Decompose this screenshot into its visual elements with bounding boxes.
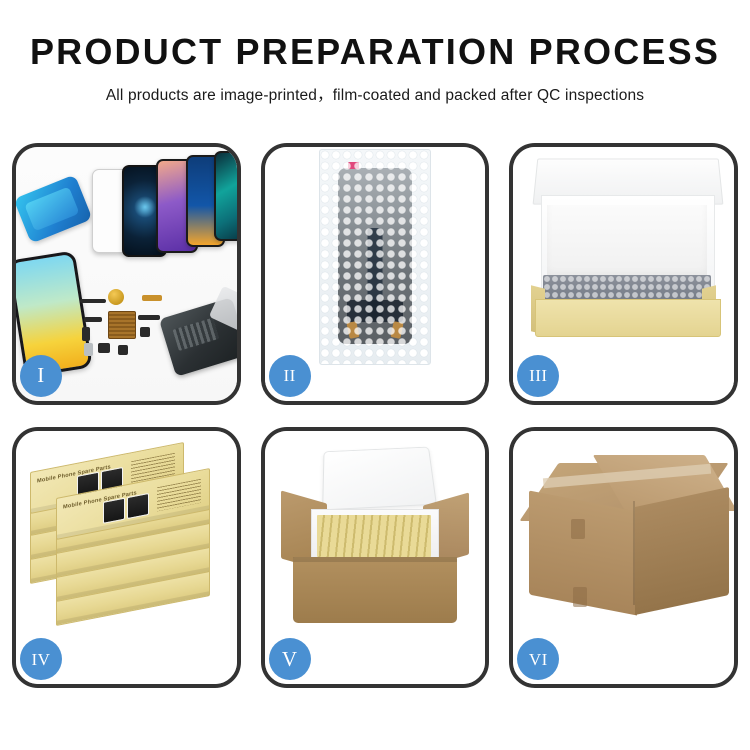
phone-screen-teal-image	[214, 151, 237, 241]
step-panel-6[interactable]: VI	[509, 427, 738, 689]
carton-tab-lower-image	[573, 587, 587, 607]
bubble-wrap-bag-image	[319, 149, 431, 365]
page-title: PRODUCT PREPARATION PROCESS	[0, 34, 750, 70]
retail-box-label-1: Mobile Phone Spare Parts	[37, 464, 111, 484]
camera-part-icon	[140, 327, 150, 337]
earpiece-part-icon	[80, 299, 106, 303]
step-panel-3[interactable]: III	[509, 143, 738, 405]
vibrator-part-icon	[98, 343, 110, 353]
button-flex-part-icon	[84, 317, 102, 322]
adhesive-sheet-image	[16, 174, 93, 243]
carton-tab-upper-image	[571, 519, 585, 539]
speaker-part-icon	[108, 289, 124, 305]
page-subtitle: All products are image-printed，film-coat…	[0, 83, 750, 105]
flex-cable-part-icon	[142, 295, 162, 301]
step-badge-5: V	[269, 638, 311, 680]
step-badge-1: I	[20, 355, 62, 397]
inner-box-front-image	[535, 299, 721, 337]
step-badge-4: IV	[20, 638, 62, 680]
retail-box-spec-lines-2	[157, 478, 201, 511]
sim-tray-part-icon	[84, 343, 93, 356]
foam-padding-image	[547, 205, 707, 279]
carton-front-image	[293, 557, 457, 623]
step-panel-2[interactable]: II	[261, 143, 490, 405]
screw-plate-part-icon	[118, 345, 128, 355]
retail-box-stack-image: Mobile Phone Spare Parts Mobile Phone Sp…	[22, 449, 232, 639]
antenna-part-icon	[138, 315, 160, 320]
page-header: PRODUCT PREPARATION PROCESS All products…	[0, 0, 750, 105]
ic-chip-part-icon	[108, 311, 136, 339]
step-panel-1[interactable]: I	[12, 143, 241, 405]
bracket-part-icon	[82, 327, 90, 341]
foam-lid-image	[322, 446, 437, 510]
bubble-texture-overlay	[320, 150, 430, 364]
carton-corner-seam	[633, 501, 635, 605]
step-panel-5[interactable]: V	[261, 427, 490, 689]
carton-right-face-image	[635, 487, 729, 615]
step-panel-4[interactable]: Mobile Phone Spare Parts Mobile Phone Sp…	[12, 427, 241, 689]
step-badge-2: II	[269, 355, 311, 397]
process-steps-grid: I II III	[12, 143, 738, 688]
packed-retail-boxes-image	[317, 515, 431, 557]
step-badge-3: III	[517, 355, 559, 397]
retail-box-phone-image-b2	[127, 492, 149, 518]
retail-box-phone-image-b1	[103, 497, 125, 523]
